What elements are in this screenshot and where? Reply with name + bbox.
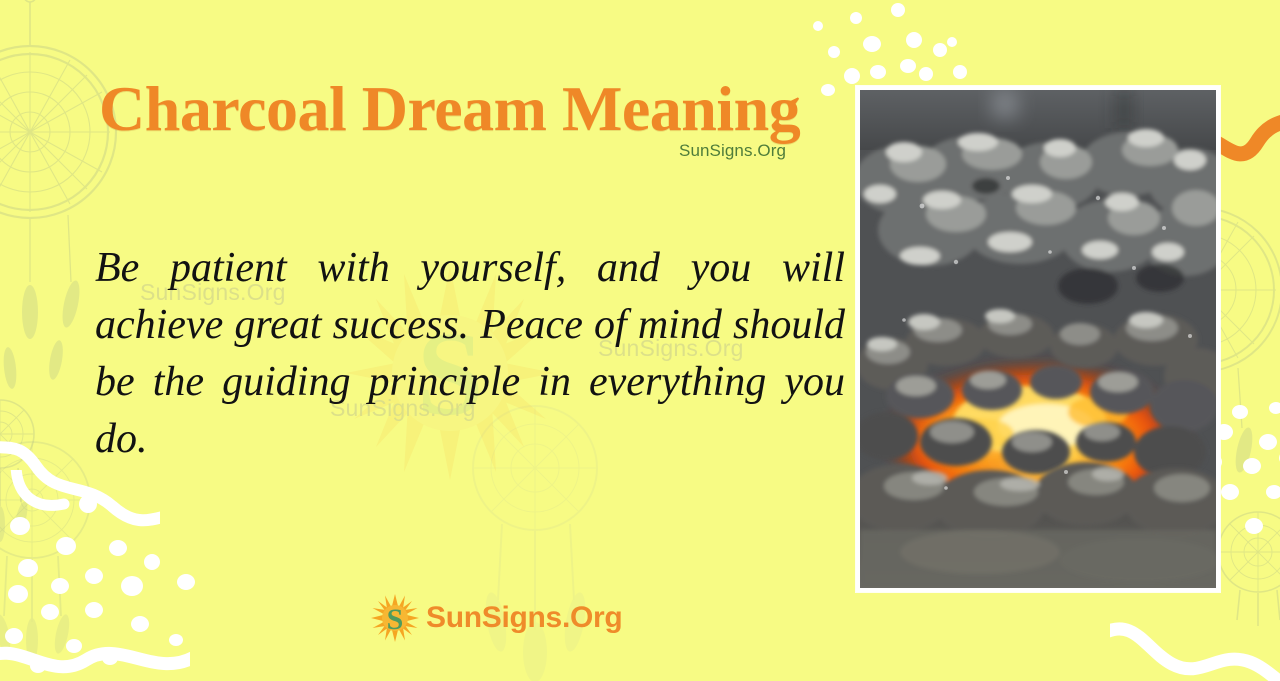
- page-title: Charcoal Dream Meaning: [99, 74, 800, 144]
- title-attribution: SunSigns.Org: [679, 141, 786, 161]
- white-wave-bottom-right-decoration: [1110, 620, 1280, 681]
- svg-text:S: S: [387, 603, 404, 636]
- brand-logo[interactable]: S SunSigns.Org: [371, 594, 622, 642]
- brand-name: SunSigns.Org: [426, 603, 622, 633]
- white-arc-decoration: [8, 470, 88, 530]
- poster-canvas: S: [0, 0, 1280, 681]
- white-wave-bottom-left-decoration: [0, 640, 190, 681]
- sun-logo-icon: S: [371, 594, 419, 642]
- charcoal-embers-photo: [860, 90, 1216, 588]
- quote-text: Be patient with yourself, and you will a…: [95, 240, 845, 525]
